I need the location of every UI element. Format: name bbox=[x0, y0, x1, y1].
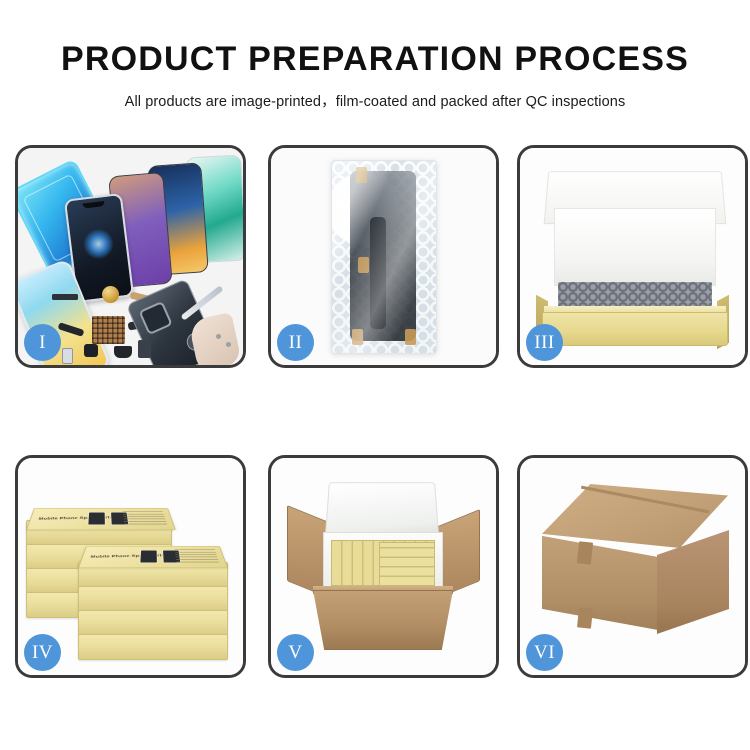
page-title: PRODUCT PREPARATION PROCESS bbox=[0, 42, 750, 76]
carton-tape-icon bbox=[577, 607, 593, 628]
process-step-3: III bbox=[517, 145, 748, 368]
step-badge-2: II bbox=[277, 324, 314, 361]
product-swatch-icon bbox=[139, 550, 158, 563]
box-front-panel bbox=[542, 312, 728, 346]
speaker-module-icon bbox=[114, 346, 132, 358]
inner-boxes-icon bbox=[379, 542, 435, 586]
step-badge-3: III bbox=[526, 324, 563, 361]
part-bar-icon bbox=[52, 294, 78, 300]
step-badge-1: I bbox=[24, 324, 61, 361]
header: PRODUCT PREPARATION PROCESS All products… bbox=[0, 0, 750, 111]
process-step-grid: I II bbox=[15, 145, 748, 679]
box-stack: Mobile Phone Spare Parts Mobile Phone Sp… bbox=[26, 476, 238, 666]
bag-sheen bbox=[332, 161, 436, 353]
process-step-2: II bbox=[268, 145, 499, 368]
coil-part-icon bbox=[102, 286, 119, 303]
part-grid-icon bbox=[92, 316, 125, 344]
camera-module-icon bbox=[84, 344, 98, 357]
battery-part-icon bbox=[138, 340, 151, 358]
step-badge-6: VI bbox=[526, 634, 563, 671]
process-step-5: V bbox=[268, 455, 499, 678]
step-badge-4: IV bbox=[24, 634, 61, 671]
foam-cooler-lid-icon bbox=[325, 482, 439, 535]
product-preparation-infographic: PRODUCT PREPARATION PROCESS All products… bbox=[0, 0, 750, 750]
carton-left-panel bbox=[542, 534, 658, 630]
stacked-box bbox=[78, 634, 228, 660]
foam-sheet-icon bbox=[554, 208, 716, 286]
carton-front-panel bbox=[313, 590, 453, 650]
process-step-1: I bbox=[15, 145, 246, 368]
process-step-4: Mobile Phone Spare Parts Mobile Phone Sp… bbox=[15, 455, 246, 678]
screw-icon bbox=[226, 342, 231, 347]
product-swatch-icon bbox=[87, 512, 106, 525]
top-box-lid-back: Mobile Phone Spare Parts bbox=[26, 508, 176, 530]
stacked-box bbox=[78, 610, 228, 636]
sim-tray-icon bbox=[62, 348, 73, 364]
screw-icon bbox=[216, 334, 221, 339]
step-badge-5: V bbox=[277, 634, 314, 671]
box-spec-lines bbox=[175, 550, 220, 564]
top-box-lid-front: Mobile Phone Spare Parts bbox=[78, 546, 228, 568]
carton-tape-icon bbox=[577, 541, 593, 564]
page-subtitle: All products are image-printed，film-coat… bbox=[0, 90, 750, 111]
process-step-6: VI bbox=[517, 455, 748, 678]
carton-top-panel bbox=[542, 484, 728, 548]
bubble-wrap-bag-icon bbox=[331, 160, 437, 354]
stacked-box bbox=[78, 586, 228, 612]
box-spec-lines bbox=[123, 512, 168, 526]
